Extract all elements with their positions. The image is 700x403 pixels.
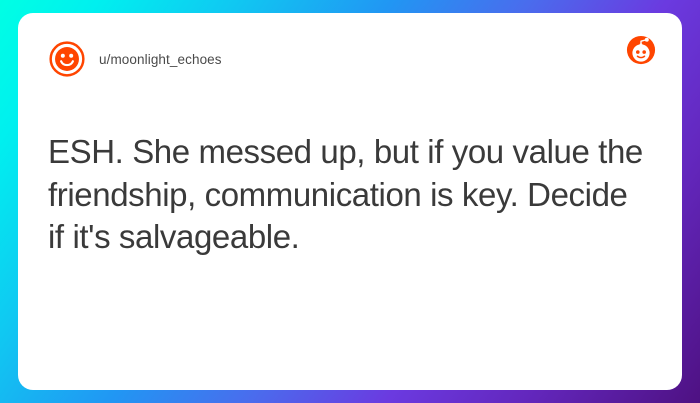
reddit-snoo-logo-icon[interactable]: [626, 35, 656, 65]
reddit-post-card: u/moonlight_echoes ESH. She messed up, b…: [18, 13, 682, 390]
post-username[interactable]: u/moonlight_echoes: [99, 52, 222, 67]
post-text: ESH. She messed up, but if you value the…: [48, 131, 648, 259]
post-body: ESH. She messed up, but if you value the…: [48, 79, 652, 370]
post-header: u/moonlight_echoes: [48, 39, 652, 79]
gradient-background: u/moonlight_echoes ESH. She messed up, b…: [0, 0, 700, 403]
smiley-face-avatar-icon[interactable]: [48, 40, 86, 78]
